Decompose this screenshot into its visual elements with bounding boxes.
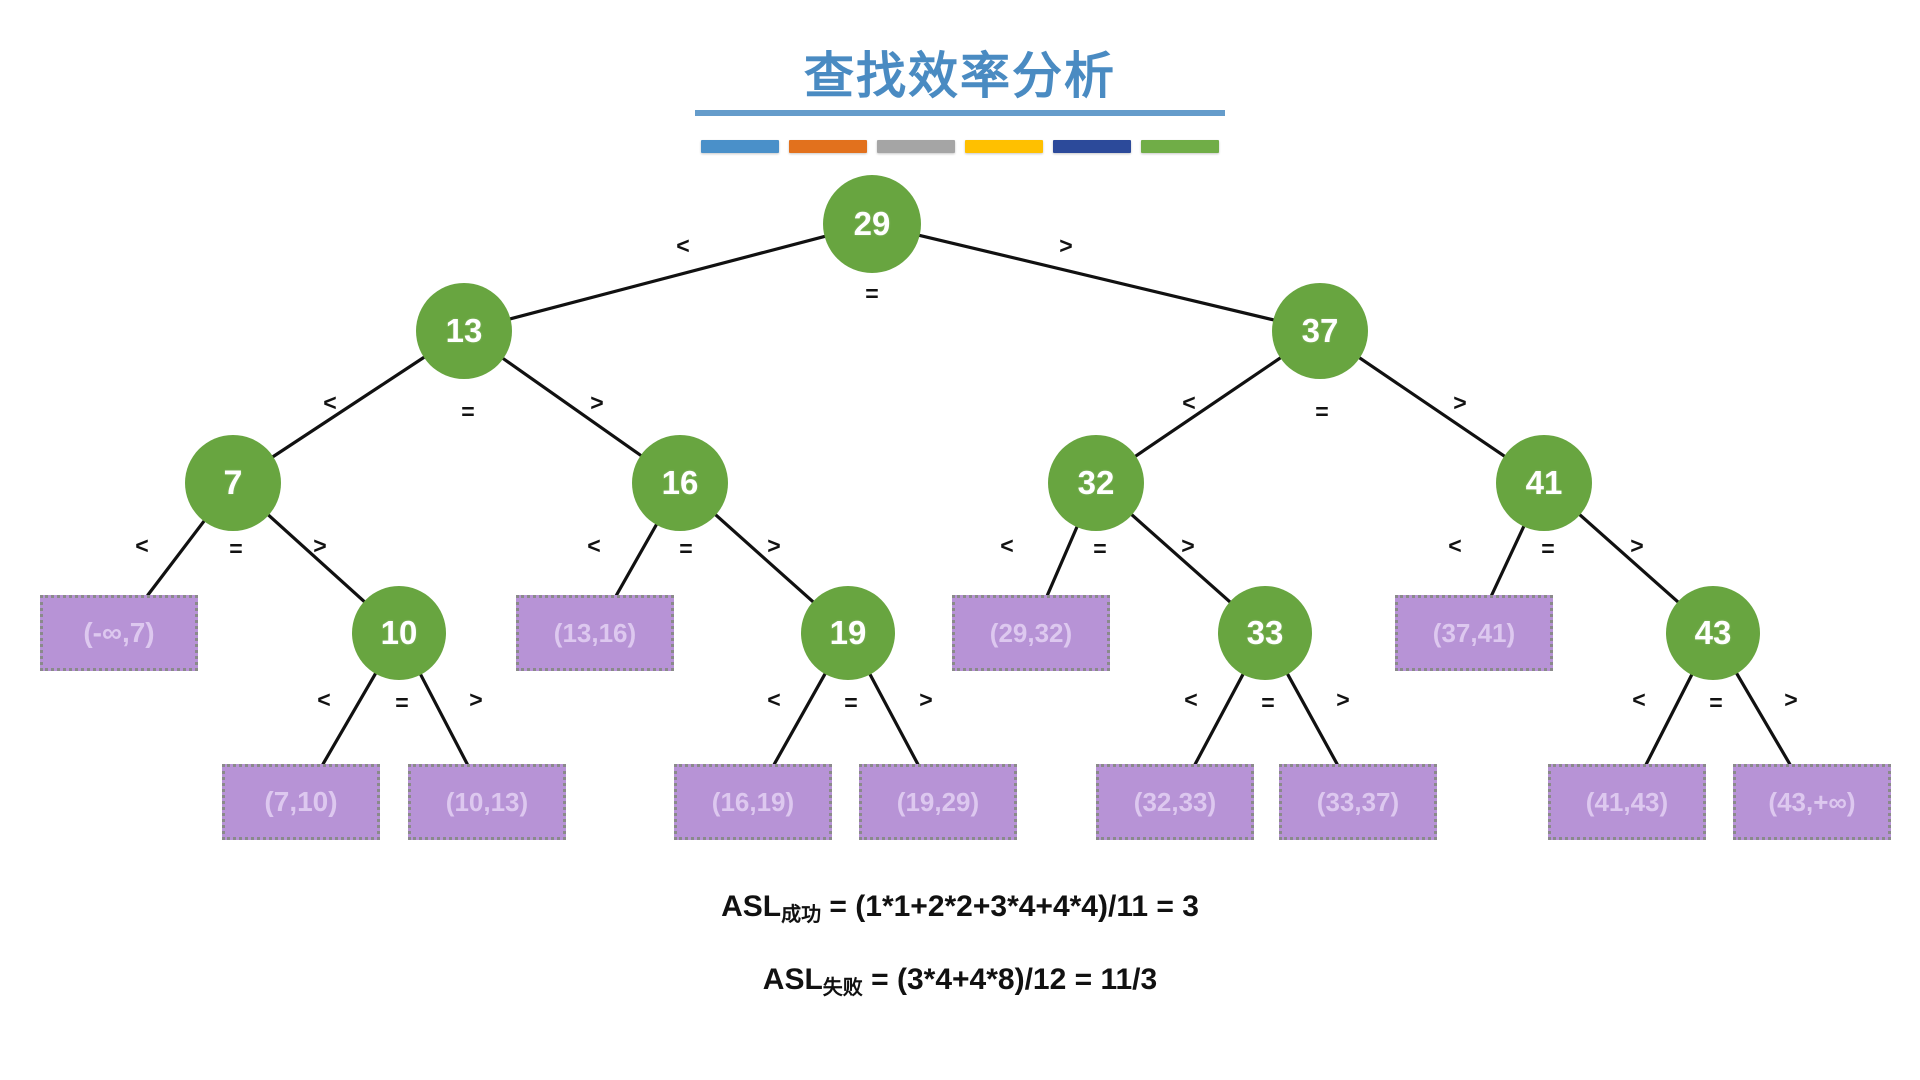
cmp-lt-n7: < <box>135 535 148 558</box>
tree-leaf-L12[interactable]: (43,+∞) <box>1733 764 1891 840</box>
asl-failure-expression: = (3*4+4*8)/12 = 11/3 <box>863 963 1157 996</box>
cmp-eq-n32: = <box>1093 538 1106 561</box>
tree-node-37[interactable]: 37 <box>1272 283 1368 379</box>
cmp-eq-n43: = <box>1709 692 1722 715</box>
tree-node-7[interactable]: 7 <box>185 435 281 531</box>
cmp-lt-n32: < <box>1000 535 1013 558</box>
cmp-lt-n43: < <box>1632 689 1645 712</box>
tree-leaf-label: (-∞,7) <box>83 617 154 649</box>
tree-leaf-L1[interactable]: (-∞,7) <box>40 595 198 671</box>
cmp-gt-n13: > <box>590 392 603 415</box>
tree-node-label: 43 <box>1695 614 1732 652</box>
cmp-eq-n10: = <box>395 692 408 715</box>
asl-failure-subscript: 失败 <box>823 977 863 999</box>
tree-node-32[interactable]: 32 <box>1048 435 1144 531</box>
cmp-gt-n10: > <box>469 689 482 712</box>
formula-block: ASL成功 = (1*1+2*2+3*4+4*4)/11 = 3 ASL失败 =… <box>0 890 1920 1000</box>
tree-leaf-label: (32,33) <box>1134 787 1216 818</box>
tree-leaf-L2[interactable]: (7,10) <box>222 764 380 840</box>
tree-node-label: 33 <box>1247 614 1284 652</box>
asl-success-name: ASL <box>721 890 781 923</box>
tree-node-41[interactable]: 41 <box>1496 435 1592 531</box>
tree-leaf-label: (16,19) <box>712 787 794 818</box>
cmp-eq-n41: = <box>1541 538 1554 561</box>
tree-node-label: 19 <box>830 614 867 652</box>
cmp-lt-n19: < <box>767 689 780 712</box>
cmp-eq-n29: = <box>865 283 878 306</box>
tree-node-29[interactable]: 29 <box>823 175 921 273</box>
tree-node-label: 7 <box>224 464 243 503</box>
cmp-lt-n37: < <box>1182 392 1195 415</box>
tree-leaf-L6[interactable]: (19,29) <box>859 764 1017 840</box>
cmp-gt-n32: > <box>1181 535 1194 558</box>
tree-leaf-L11[interactable]: (41,43) <box>1548 764 1706 840</box>
asl-success-subscript: 成功 <box>781 904 821 926</box>
tree-leaf-L3[interactable]: (10,13) <box>408 764 566 840</box>
tree-node-16[interactable]: 16 <box>632 435 728 531</box>
cmp-gt-n19: > <box>919 689 932 712</box>
tree-leaf-L9[interactable]: (33,37) <box>1279 764 1437 840</box>
asl-failure-name: ASL <box>763 963 823 996</box>
tree-node-label: 16 <box>662 464 699 502</box>
tree-leaf-label: (19,29) <box>897 787 979 818</box>
tree-leaf-label: (37,41) <box>1433 618 1515 649</box>
tree-leaf-L10[interactable]: (37,41) <box>1395 595 1553 671</box>
asl-success-formula: ASL成功 = (1*1+2*2+3*4+4*4)/11 = 3 <box>0 890 1920 927</box>
cmp-gt-n33: > <box>1336 689 1349 712</box>
cmp-gt-n16: > <box>767 535 780 558</box>
tree-leaf-label: (43,+∞) <box>1768 787 1855 818</box>
tree-leaf-L4[interactable]: (13,16) <box>516 595 674 671</box>
cmp-eq-n13: = <box>461 401 474 424</box>
slide-canvas: 查找效率分析 291337716324110193343(-∞,7)(7,10)… <box>0 0 1920 1080</box>
tree-node-label: 10 <box>381 614 418 652</box>
asl-success-expression: = (1*1+2*2+3*4+4*4)/11 = 3 <box>821 890 1199 923</box>
cmp-lt-n29: < <box>676 235 689 258</box>
tree-leaf-L8[interactable]: (32,33) <box>1096 764 1254 840</box>
tree-leaf-L7[interactable]: (29,32) <box>952 595 1110 671</box>
cmp-eq-n7: = <box>229 538 242 561</box>
cmp-gt-n7: > <box>313 535 326 558</box>
cmp-lt-n41: < <box>1448 535 1461 558</box>
tree-leaf-label: (7,10) <box>264 786 337 818</box>
tree-node-label: 13 <box>446 312 483 350</box>
tree-node-13[interactable]: 13 <box>416 283 512 379</box>
tree-leaf-L5[interactable]: (16,19) <box>674 764 832 840</box>
tree-node-33[interactable]: 33 <box>1218 586 1312 680</box>
tree-leaf-label: (13,16) <box>554 618 636 649</box>
tree-node-label: 32 <box>1078 464 1115 502</box>
cmp-lt-n16: < <box>587 535 600 558</box>
cmp-lt-n13: < <box>323 392 336 415</box>
tree-node-label: 37 <box>1302 312 1339 350</box>
cmp-eq-n16: = <box>679 538 692 561</box>
tree-leaf-label: (33,37) <box>1317 787 1399 818</box>
tree-node-label: 29 <box>854 205 891 243</box>
cmp-eq-n19: = <box>844 692 857 715</box>
tree-leaf-label: (29,32) <box>990 618 1072 649</box>
tree-node-43[interactable]: 43 <box>1666 586 1760 680</box>
tree-node-10[interactable]: 10 <box>352 586 446 680</box>
cmp-gt-n29: > <box>1059 235 1072 258</box>
cmp-gt-n37: > <box>1453 392 1466 415</box>
asl-failure-formula: ASL失败 = (3*4+4*8)/12 = 11/3 <box>0 963 1920 1000</box>
tree-leaf-label: (10,13) <box>446 787 528 818</box>
cmp-eq-n33: = <box>1261 692 1274 715</box>
cmp-lt-n10: < <box>317 689 330 712</box>
cmp-gt-n43: > <box>1784 689 1797 712</box>
tree-node-19[interactable]: 19 <box>801 586 895 680</box>
tree-node-label: 41 <box>1526 464 1563 502</box>
cmp-lt-n33: < <box>1184 689 1197 712</box>
tree-leaf-label: (41,43) <box>1586 787 1668 818</box>
cmp-gt-n41: > <box>1630 535 1643 558</box>
cmp-eq-n37: = <box>1315 401 1328 424</box>
